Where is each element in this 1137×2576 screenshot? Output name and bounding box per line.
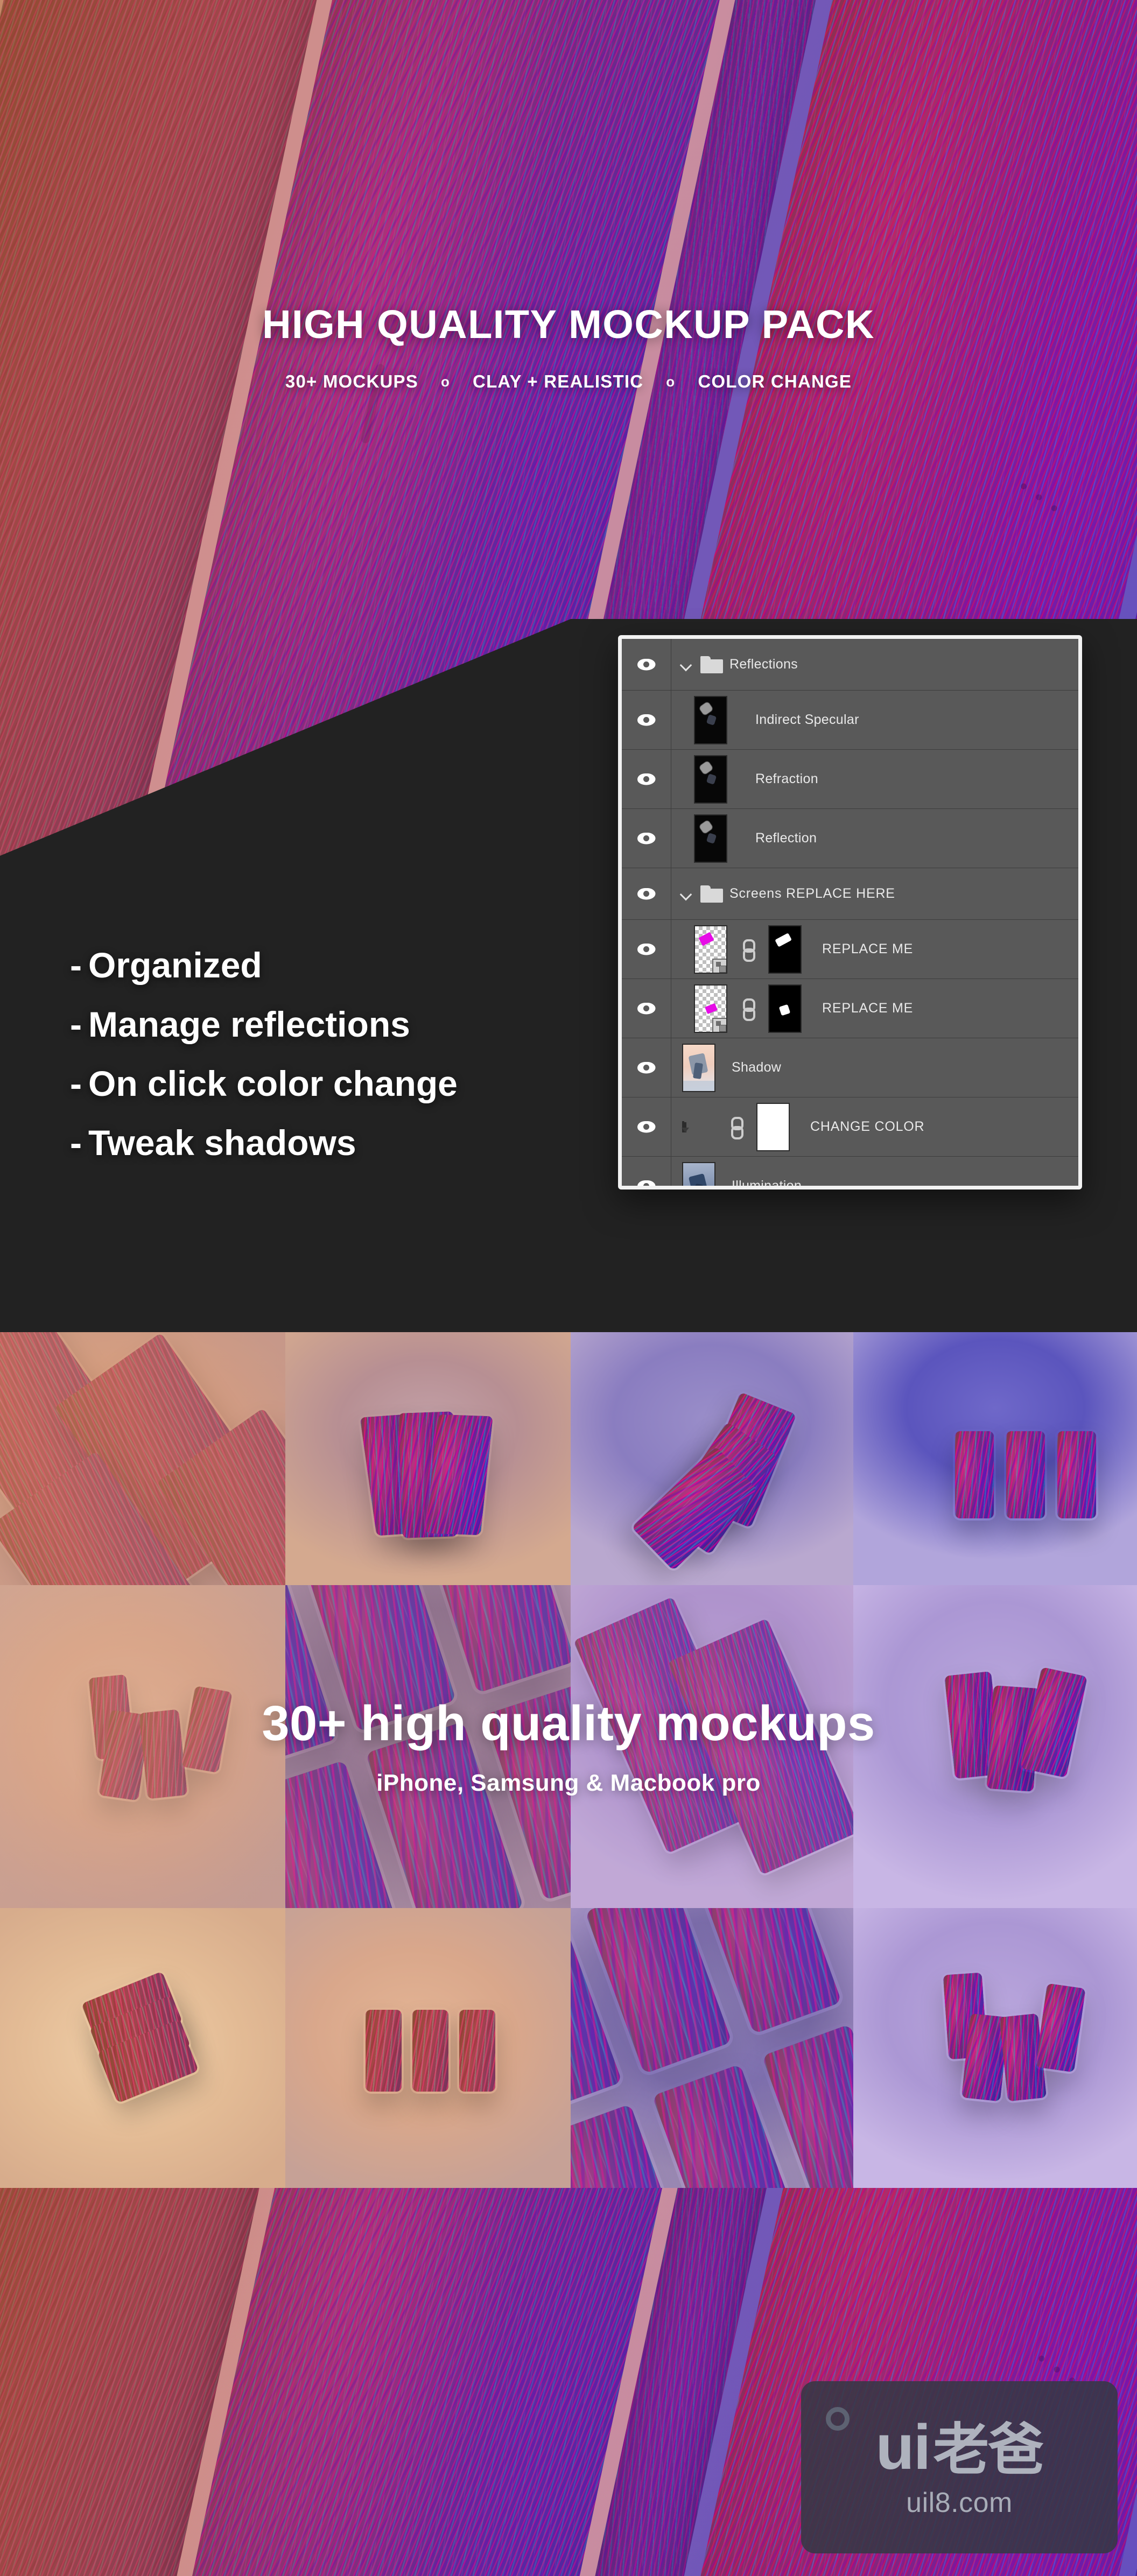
- watermark-brand-cjk: 老爸: [933, 2422, 1043, 2478]
- page-title: HIGH QUALITY MOCKUP PACK: [0, 301, 1137, 347]
- gallery-cell-8[interactable]: [0, 1908, 285, 2188]
- smart-object-badge-icon: [712, 959, 726, 973]
- hero-badge-2: COLOR CHANGE: [698, 371, 852, 392]
- layer-name: Shadow: [732, 1060, 781, 1075]
- layer-mask-thumbnail[interactable]: [768, 984, 802, 1033]
- link-icon[interactable]: [740, 939, 754, 960]
- layer-name: Illumination: [732, 1178, 802, 1190]
- layer-name: Screens REPLACE HERE: [729, 886, 895, 902]
- hero-badges: 30+ MOCKUPS o CLAY + REALISTIC o COLOR C…: [0, 371, 1137, 392]
- smart-object-badge-icon: [712, 1018, 726, 1032]
- watermark-brand-latin: ui: [876, 2416, 930, 2479]
- circle-icon: [826, 2407, 850, 2431]
- bullet-dash-icon: -: [70, 1066, 88, 1101]
- eye-icon[interactable]: [637, 1003, 656, 1015]
- gallery-cell-11[interactable]: [853, 1908, 1137, 2188]
- layer-thumbnail[interactable]: [694, 755, 727, 804]
- layer-mask-thumbnail[interactable]: [756, 1103, 790, 1151]
- feature-item-0: -Organized: [70, 947, 662, 983]
- eye-icon[interactable]: [637, 833, 656, 844]
- layer-thumbnail[interactable]: [694, 984, 727, 1033]
- feature-label: Tweak shadows: [88, 1123, 356, 1163]
- feature-label: Organized: [88, 945, 262, 985]
- eye-icon[interactable]: [637, 1121, 656, 1133]
- layer-visibility-toggle[interactable]: [622, 1038, 671, 1097]
- layer-thumbnail[interactable]: [682, 1162, 715, 1190]
- chevron-down-icon[interactable]: [680, 658, 694, 672]
- layer-row[interactable]: Shadow: [622, 1038, 1078, 1097]
- layer-group-row[interactable]: Screens REPLACE HERE: [622, 868, 1078, 920]
- layer-visibility-toggle[interactable]: [622, 809, 671, 868]
- chevron-down-icon[interactable]: [680, 887, 694, 901]
- layer-row[interactable]: Reflection: [622, 809, 1078, 868]
- bullet-dash-icon: -: [70, 1007, 88, 1042]
- layer-thumbnail[interactable]: [694, 696, 727, 744]
- layer-visibility-toggle[interactable]: [622, 979, 671, 1038]
- gallery-cell-10[interactable]: [571, 1908, 853, 2188]
- eye-icon[interactable]: [637, 888, 656, 900]
- badge-separator-dot-icon: o: [441, 374, 450, 390]
- feature-item-3: -Tweak shadows: [70, 1125, 662, 1160]
- layer-row[interactable]: Indirect Specular: [622, 691, 1078, 750]
- layer-row[interactable]: Illumination: [622, 1157, 1078, 1190]
- gallery-cell-1[interactable]: [285, 1332, 571, 1585]
- link-icon[interactable]: [740, 998, 754, 1019]
- gallery-headline: 30+ high quality mockups: [0, 1695, 1137, 1752]
- layer-name: CHANGE COLOR: [810, 1119, 924, 1135]
- eye-icon[interactable]: [637, 659, 656, 671]
- layer-name: REPLACE ME: [822, 941, 913, 957]
- layer-name: Reflection: [755, 830, 817, 846]
- badge-separator-dot-icon: o: [666, 374, 675, 390]
- layer-thumbnail[interactable]: [682, 1044, 715, 1092]
- feature-label: On click color change: [88, 1064, 458, 1103]
- layer-visibility-toggle[interactable]: [622, 639, 671, 690]
- eye-icon[interactable]: [637, 944, 656, 955]
- gradient-slider-icon[interactable]: [684, 1122, 686, 1132]
- hero-badge-0: 30+ MOCKUPS: [285, 371, 418, 392]
- hero-badge-1: CLAY + REALISTIC: [473, 371, 643, 392]
- layer-visibility-toggle[interactable]: [622, 1157, 671, 1190]
- layer-group-row[interactable]: Reflections: [622, 639, 1078, 691]
- layer-visibility-toggle[interactable]: [622, 920, 671, 979]
- feature-item-2: -On click color change: [70, 1066, 662, 1101]
- gallery-subhead: iPhone, Samsung & Macbook pro: [0, 1770, 1137, 1797]
- gallery-cell-0[interactable]: [0, 1332, 285, 1585]
- layer-row[interactable]: REPLACE ME: [622, 979, 1078, 1038]
- layer-name: REPLACE ME: [822, 1001, 913, 1016]
- feature-list: -Organized -Manage reflections -On click…: [70, 947, 662, 1184]
- layer-row[interactable]: REPLACE ME: [622, 920, 1078, 979]
- gallery-cell-3[interactable]: [853, 1332, 1137, 1585]
- gallery-grid: [0, 1332, 1137, 2188]
- layer-row[interactable]: CHANGE COLOR: [622, 1097, 1078, 1157]
- link-icon[interactable]: [728, 1116, 742, 1138]
- layer-name: Reflections: [729, 657, 798, 672]
- layer-name: Indirect Specular: [755, 712, 859, 728]
- watermark-badge[interactable]: ui 老爸 uil8.com: [801, 2381, 1118, 2553]
- feature-label: Manage reflections: [88, 1004, 410, 1044]
- photoshop-layers-panel[interactable]: Reflections Indirect Specular Refraction: [618, 635, 1082, 1190]
- layer-row[interactable]: Refraction: [622, 750, 1078, 809]
- gallery-cell-9[interactable]: [285, 1908, 571, 2188]
- eye-icon[interactable]: [637, 773, 656, 785]
- watermark-url: uil8.com: [906, 2487, 1013, 2519]
- eye-icon[interactable]: [637, 714, 656, 726]
- layer-visibility-toggle[interactable]: [622, 750, 671, 808]
- layer-thumbnail[interactable]: [694, 814, 727, 863]
- folder-icon: [700, 656, 723, 673]
- gallery-cell-2[interactable]: [571, 1332, 853, 1585]
- folder-icon: [700, 885, 723, 903]
- bullet-dash-icon: -: [70, 947, 88, 983]
- layer-mask-thumbnail[interactable]: [768, 925, 802, 974]
- layer-visibility-toggle[interactable]: [622, 1097, 671, 1156]
- layer-visibility-toggle[interactable]: [622, 868, 671, 919]
- mockup-pack-presentation: HIGH QUALITY MOCKUP PACK 30+ MOCKUPS o C…: [0, 0, 1137, 2576]
- bullet-dash-icon: -: [70, 1125, 88, 1160]
- eye-icon[interactable]: [637, 1062, 656, 1074]
- layer-thumbnail[interactable]: [694, 925, 727, 974]
- layer-name: Refraction: [755, 771, 818, 787]
- watermark-brand: ui 老爸: [876, 2416, 1043, 2479]
- eye-icon[interactable]: [637, 1180, 656, 1190]
- feature-item-1: -Manage reflections: [70, 1007, 662, 1042]
- layer-visibility-toggle[interactable]: [622, 691, 671, 749]
